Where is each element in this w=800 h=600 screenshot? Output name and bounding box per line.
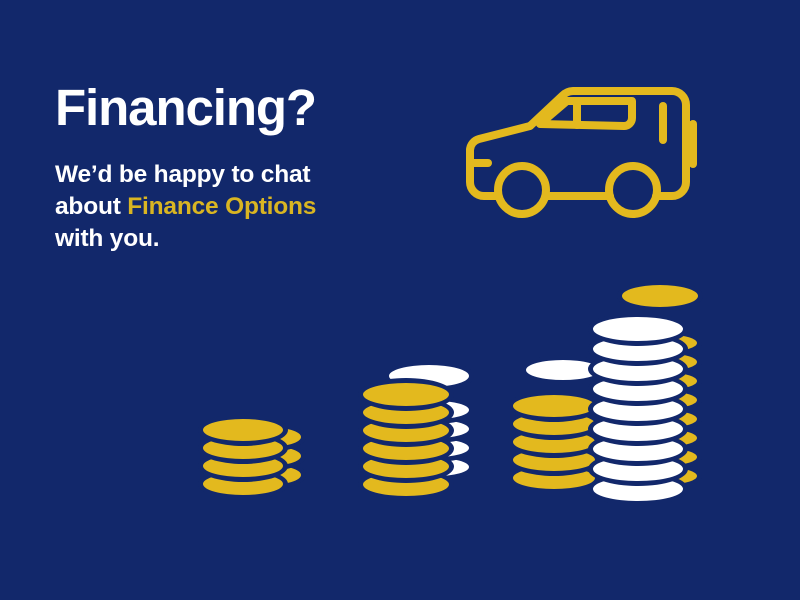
coin (198, 414, 288, 446)
coin (588, 312, 688, 346)
coin (508, 390, 600, 422)
coin (358, 378, 454, 411)
coin-stacks-icon (0, 0, 800, 600)
financing-promo-slide: Financing? We’d be happy to chat about F… (0, 0, 800, 600)
coin (617, 280, 703, 312)
